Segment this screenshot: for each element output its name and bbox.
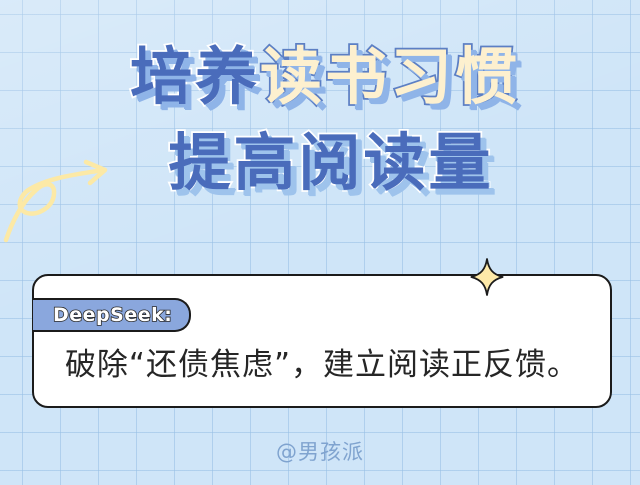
answer-card: DeepSeek: 破除“还债焦虑”，建立阅读正反馈。 xyxy=(32,274,612,408)
headline-char: 高 xyxy=(233,132,298,194)
watermark-handle: @男孩派 xyxy=(0,436,640,466)
headline-block: 培养读书习惯 提高阅读量 xyxy=(0,46,640,194)
headline-line-2: 提高阅读量 xyxy=(22,132,640,194)
headline-char: 读 xyxy=(364,132,429,194)
poster-canvas: 培养读书习惯 提高阅读量 DeepSeek: 破除“还债焦虑”，建立阅读正反馈。… xyxy=(0,0,640,485)
deepseek-speaker-pill: DeepSeek: xyxy=(33,298,191,332)
headline-char: 习 xyxy=(390,46,455,108)
four-point-sparkle-star xyxy=(470,258,504,296)
headline-char: 量 xyxy=(429,132,494,194)
headline-char: 惯 xyxy=(455,46,520,108)
headline-char: 读 xyxy=(260,46,325,108)
deepseek-label: DeepSeek: xyxy=(53,304,172,326)
headline-char: 培 xyxy=(130,46,195,108)
headline-char: 阅 xyxy=(298,132,363,194)
headline-line-1: 培养读书习惯 xyxy=(10,46,640,108)
headline-char: 养 xyxy=(195,46,260,108)
answer-text: 破除“还债焦虑”，建立阅读正反馈。 xyxy=(34,339,610,384)
headline-char: 书 xyxy=(325,46,390,108)
headline-char: 提 xyxy=(168,132,233,194)
